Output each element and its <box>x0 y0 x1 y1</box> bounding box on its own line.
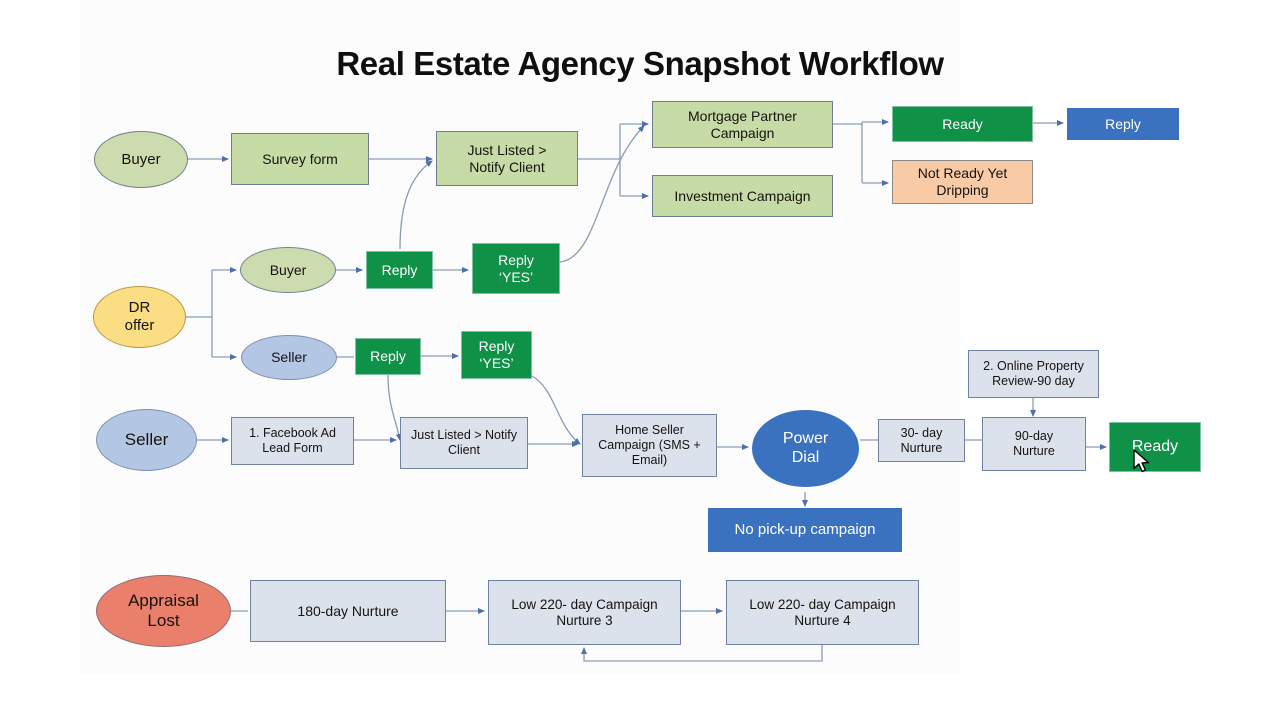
node-90-day-nurture[interactable]: 90-day Nurture <box>982 417 1086 471</box>
node-power-dial[interactable]: Power Dial <box>752 410 859 487</box>
node-dr-seller-reply[interactable]: Reply <box>355 338 421 375</box>
node-ready-bottom[interactable]: Ready <box>1109 422 1201 472</box>
node-facebook-ad-lead-form[interactable]: 1. Facebook Ad Lead Form <box>231 417 354 465</box>
node-ready-top[interactable]: Ready <box>892 106 1033 142</box>
node-dr-buyer-reply[interactable]: Reply <box>366 251 433 289</box>
workflow-diagram-canvas: Real Estate Agency Snapshot Workflow <box>0 0 1280 720</box>
node-low-220-day-nurture-4[interactable]: Low 220- day Campaign Nurture 4 <box>726 580 919 645</box>
node-no-pickup-campaign[interactable]: No pick-up campaign <box>708 508 902 552</box>
node-dr-buyer[interactable]: Buyer <box>240 247 336 293</box>
node-180-day-nurture[interactable]: 180-day Nurture <box>250 580 446 642</box>
node-home-seller-campaign[interactable]: Home Seller Campaign (SMS + Email) <box>582 414 717 477</box>
node-survey-form[interactable]: Survey form <box>231 133 369 185</box>
node-appraisal-lost[interactable]: Appraisal Lost <box>96 575 231 647</box>
node-buyer-start[interactable]: Buyer <box>94 131 188 188</box>
node-reply-blue[interactable]: Reply <box>1067 108 1179 140</box>
node-mortgage-partner-campaign[interactable]: Mortgage Partner Campaign <box>652 101 833 148</box>
node-seller-start[interactable]: Seller <box>96 409 197 471</box>
node-dr-offer[interactable]: DR offer <box>93 286 186 348</box>
node-low-220-day-nurture-3[interactable]: Low 220- day Campaign Nurture 3 <box>488 580 681 645</box>
node-not-ready-yet-dripping[interactable]: Not Ready Yet Dripping <box>892 160 1033 204</box>
node-investment-campaign[interactable]: Investment Campaign <box>652 175 833 217</box>
page-title: Real Estate Agency Snapshot Workflow <box>0 45 1280 83</box>
node-just-listed-notify-client-seller[interactable]: Just Listed > Notify Client <box>400 417 528 469</box>
node-dr-seller-reply-yes[interactable]: Reply ‘YES’ <box>461 331 532 379</box>
node-online-property-review[interactable]: 2. Online Property Review-90 day <box>968 350 1099 398</box>
node-just-listed-notify-client-buyer[interactable]: Just Listed > Notify Client <box>436 131 578 186</box>
node-30-day-nurture[interactable]: 30- day Nurture <box>878 419 965 462</box>
node-dr-seller[interactable]: Seller <box>241 335 337 380</box>
node-dr-buyer-reply-yes[interactable]: Reply ‘YES’ <box>472 243 560 294</box>
